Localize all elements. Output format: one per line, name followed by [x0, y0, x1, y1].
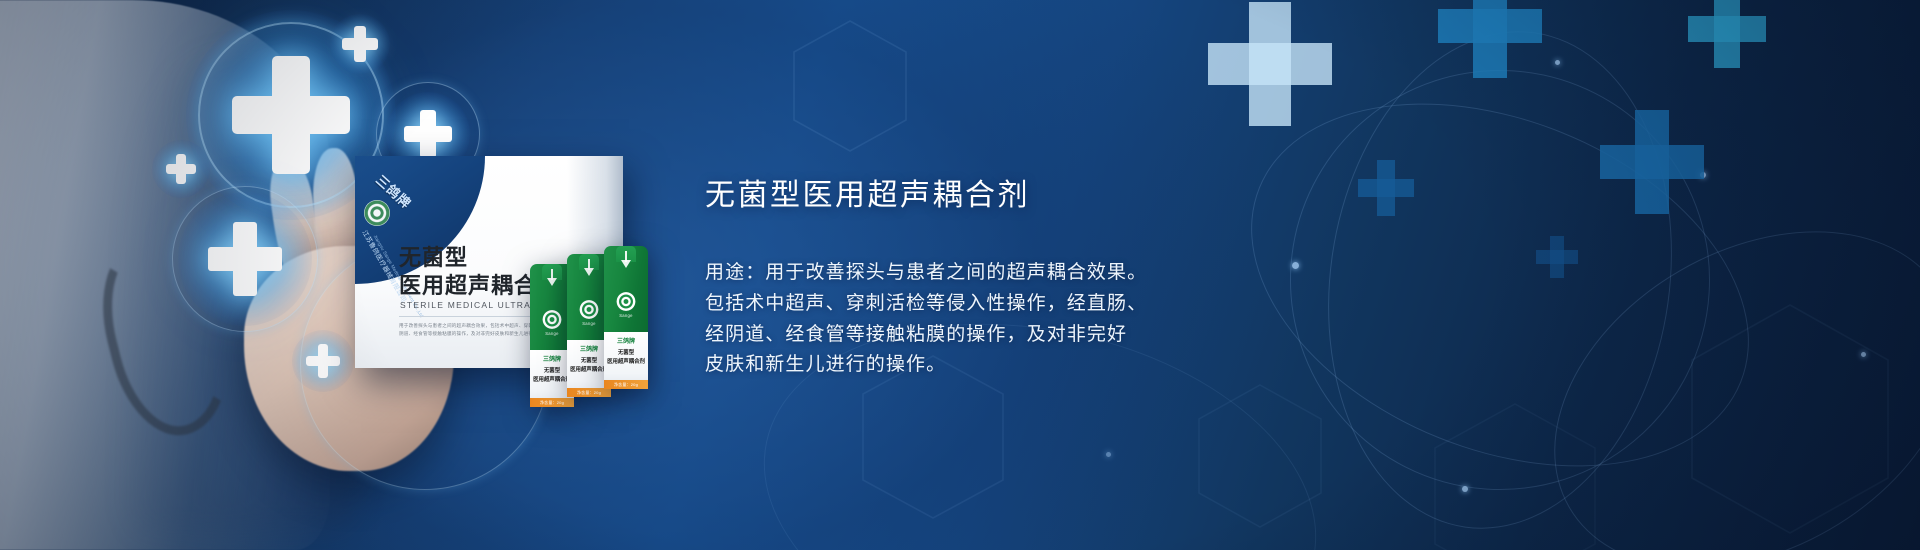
hexagon-outline-icon — [1685, 300, 1895, 538]
spiral-logo-icon — [617, 292, 636, 311]
medical-cross-icon — [1438, 0, 1542, 78]
spiral-logo-icon — [364, 200, 390, 226]
sachet-net-bar: 净含量：20g — [530, 398, 574, 407]
medical-cross-icon — [1358, 160, 1414, 216]
atom-orbit-icon — [1297, 9, 1703, 550]
sachet-net-bar: 净含量：20g — [604, 380, 648, 389]
sachet-net: 净含量：20g — [614, 382, 638, 388]
copy-block: 无菌型医用超声耦合剂 用途：用于改善探头与患者之间的超声耦合效果。 包括术中超声… — [705, 178, 1265, 381]
medical-cross-icon — [1600, 110, 1704, 214]
description-line: 经阴道、经食管等接触粘膜的操作，及对非完好 — [705, 320, 1265, 351]
orbit-node-dot — [1700, 172, 1706, 178]
medical-cross-icon — [1688, 0, 1766, 68]
description-block: 用途：用于改善探头与患者之间的超声耦合效果。 包括术中超声、穿刺活检等侵入性操作… — [705, 258, 1265, 381]
sachet-brand: 三鸽牌 — [543, 354, 561, 363]
orbit-node-dot — [1292, 262, 1299, 269]
sachet-brand: 三鸽牌 — [617, 336, 635, 345]
sachet-line1: 无菌型 — [544, 366, 560, 374]
spiral-logo-icon — [580, 300, 599, 319]
description-line: 皮肤和新生儿进行的操作。 — [705, 350, 1265, 381]
sachet-line1: 无菌型 — [618, 348, 634, 356]
spiral-logo-icon — [543, 310, 562, 329]
product-hero-banner: 三鸽牌 江苏鲁鸽医疗器械有限公司 Jiangsu Sange Medical I… — [0, 0, 1920, 550]
orbit-node-dot — [1555, 60, 1560, 65]
atom-orbit-icon — [1235, 15, 1764, 544]
orbit-node-dot — [1861, 352, 1866, 357]
sachet-brandmark-en: Sange — [582, 321, 596, 326]
sachet-net: 净含量：20g — [540, 400, 564, 406]
sachet-top: Sange — [604, 246, 648, 332]
sachet: Sange 三鸽牌 无菌型 医用超声耦合剂 净含量：20g — [604, 246, 648, 389]
medical-cross-icon — [1536, 236, 1578, 278]
hexagon-outline-icon — [1195, 382, 1325, 530]
sachet-net: 净含量：20g — [577, 390, 601, 396]
sachet-line2: 医用超声耦合剂 — [570, 365, 608, 373]
sachet-line2: 医用超声耦合剂 — [533, 375, 571, 383]
sachet-net-bar: 净含量：20g — [567, 388, 611, 397]
sachet-brandmark-en: Sange — [619, 313, 633, 318]
sachet-line2: 医用超声耦合剂 — [607, 357, 645, 365]
down-arrow-icon — [584, 268, 594, 276]
sachet-brandmark-en: Sange — [545, 331, 559, 336]
description-line: 包括术中超声、穿刺活检等侵入性操作，经直肠、 — [705, 289, 1265, 320]
sachet-line1: 无菌型 — [581, 356, 597, 364]
orbit-node-dot — [1462, 486, 1468, 492]
orbit-node-dot — [1106, 452, 1111, 457]
description-line: 用途：用于改善探头与患者之间的超声耦合效果。 — [705, 258, 1265, 289]
atom-orbit-icon — [1494, 163, 1920, 550]
hexagon-outline-icon — [790, 18, 910, 154]
page-title: 无菌型医用超声耦合剂 — [705, 178, 1265, 214]
atom-orbit-icon — [1197, 35, 1803, 536]
down-arrow-icon — [547, 278, 557, 286]
sachet-bottom: 三鸽牌 无菌型 医用超声耦合剂 净含量：20g — [604, 332, 648, 389]
medical-cross-icon — [1208, 2, 1332, 126]
down-arrow-icon — [621, 260, 631, 268]
sachet-brand: 三鸽牌 — [580, 344, 598, 353]
hexagon-outline-icon — [1430, 400, 1600, 550]
